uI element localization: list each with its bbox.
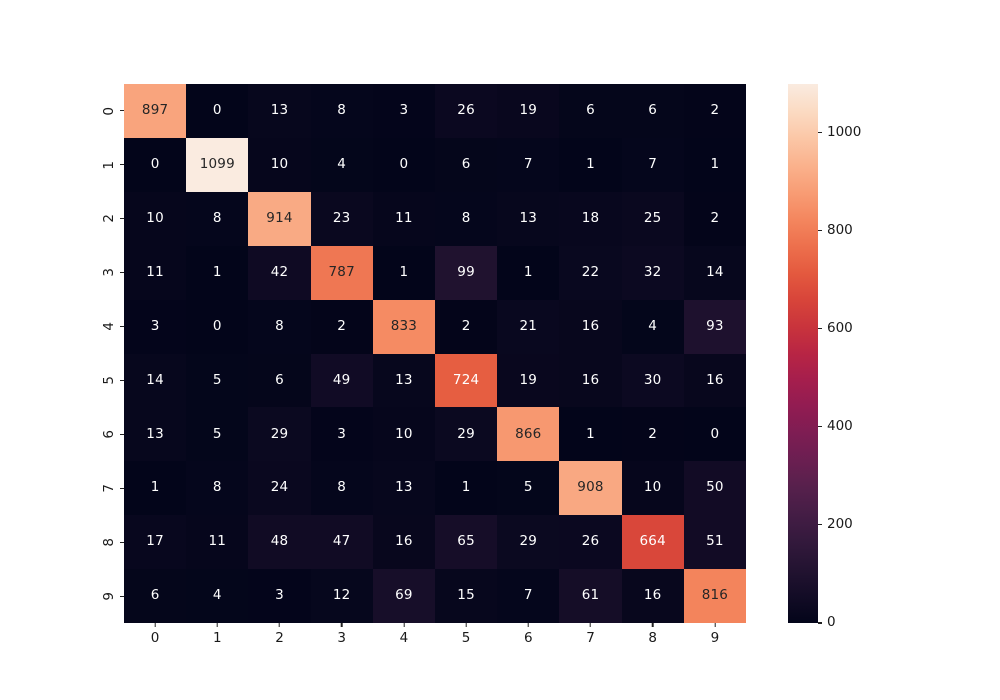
y-axis-tick-label: 5 [103,376,117,385]
colorbar-tick-mark [818,132,822,133]
x-axis-tick-label: 6 [524,632,533,646]
y-axis-tick-mark [120,434,124,435]
heatmap-cell: 23 [311,192,373,246]
heatmap-cell: 1099 [186,138,248,192]
heatmap-cell: 8 [311,461,373,515]
heatmap-cell: 3 [373,84,435,138]
x-axis-tick-label: 7 [586,632,595,646]
heatmap-cell: 897 [124,84,186,138]
y-axis-tick-label: 2 [103,214,117,223]
colorbar-tick-mark [818,230,822,231]
heatmap-cell: 32 [622,246,684,300]
heatmap-cell: 29 [435,407,497,461]
heatmap-cell: 10 [248,138,310,192]
heatmap-cell: 664 [622,515,684,569]
colorbar-tick-label: 1000 [827,126,861,140]
heatmap-cell: 15 [435,569,497,623]
x-axis-tick-mark [279,623,280,627]
heatmap-cell: 5 [497,461,559,515]
heatmap-cell: 49 [311,354,373,408]
y-axis-tick-mark [120,326,124,327]
heatmap-cell-grid: 8970138326196620109910406717110891423118… [124,84,746,623]
x-axis-tick-label: 4 [400,632,409,646]
heatmap-cell: 0 [186,84,248,138]
x-axis-tick: 9 [711,623,720,657]
colorbar-tick-mark [818,426,822,427]
y-axis-tick-label: 7 [103,484,117,493]
colorbar-tick-mark [818,328,822,329]
heatmap-cell: 1 [559,407,621,461]
heatmap-cell: 2 [435,300,497,354]
heatmap-cell: 8 [435,192,497,246]
x-axis-tick: 1 [213,623,222,657]
heatmap-cell: 7 [622,138,684,192]
colorbar-tick-mark [818,524,822,525]
heatmap-cell: 29 [497,515,559,569]
y-axis-tick-label: 9 [103,592,117,601]
x-axis-tick: 5 [462,623,471,657]
y-axis-tick-label: 6 [103,430,117,439]
heatmap-cell: 8 [186,192,248,246]
heatmap-cell: 19 [497,354,559,408]
x-axis-tick-mark [714,623,715,627]
colorbar-tick-label: 400 [827,420,853,434]
x-axis-tick: 7 [586,623,595,657]
x-axis-tick: 8 [648,623,657,657]
heatmap-cell: 0 [373,138,435,192]
x-axis-tick-mark [341,623,342,627]
x-axis-tick-label: 3 [337,632,346,646]
y-axis-tick-label: 1 [103,161,117,170]
heatmap-cell: 17 [124,515,186,569]
x-axis-tick: 4 [400,623,409,657]
y-axis-tick-mark [120,542,124,543]
x-axis-tick: 0 [151,623,160,657]
colorbar-gradient [788,84,818,623]
heatmap-cell: 10 [124,192,186,246]
heatmap-cell: 13 [248,84,310,138]
heatmap-cell: 2 [684,192,746,246]
heatmap-cell: 25 [622,192,684,246]
heatmap-cell: 1 [186,246,248,300]
heatmap-cell: 93 [684,300,746,354]
x-axis-tick-label: 2 [275,632,284,646]
heatmap-cell: 5 [186,407,248,461]
heatmap-cell: 10 [622,461,684,515]
y-axis-tick-mark [120,110,124,111]
y-axis-tick-label: 3 [103,268,117,277]
heatmap-cell: 4 [311,138,373,192]
heatmap-cell: 2 [684,84,746,138]
heatmap-cell: 787 [311,246,373,300]
heatmap-cell: 1 [124,461,186,515]
x-axis-tick-mark [652,623,653,627]
heatmap-cell: 69 [373,569,435,623]
heatmap-cell: 908 [559,461,621,515]
y-axis-tick-mark [120,164,124,165]
heatmap-cell: 26 [559,515,621,569]
x-axis-tick-label: 5 [462,632,471,646]
heatmap-cell: 1 [373,246,435,300]
heatmap-cell: 13 [124,407,186,461]
heatmap-cell: 14 [124,354,186,408]
heatmap-cell: 1 [559,138,621,192]
heatmap-cell: 8 [248,300,310,354]
heatmap-cell: 14 [684,246,746,300]
heatmap-cell: 5 [186,354,248,408]
x-axis-tick-mark [217,623,218,627]
heatmap-cell: 13 [373,461,435,515]
heatmap-cell: 866 [497,407,559,461]
x-axis-tick-label: 0 [151,632,160,646]
heatmap-cell: 6 [435,138,497,192]
heatmap-cell: 2 [622,407,684,461]
y-axis-tick-mark [120,596,124,597]
heatmap-cell: 16 [684,354,746,408]
heatmap-cell: 26 [435,84,497,138]
heatmap-cell: 1 [435,461,497,515]
x-axis-tick: 6 [524,623,533,657]
colorbar-tick-label: 0 [827,616,836,630]
heatmap-cell: 816 [684,569,746,623]
heatmap-cell: 10 [373,407,435,461]
heatmap-cell: 16 [622,569,684,623]
y-axis-tick-label: 0 [103,107,117,116]
heatmap-cell: 914 [248,192,310,246]
heatmap-cell: 99 [435,246,497,300]
heatmap-cell: 6 [559,84,621,138]
x-axis-tick-mark [466,623,467,627]
heatmap-cell: 0 [684,407,746,461]
heatmap-cell: 6 [248,354,310,408]
y-axis-tick-mark [120,218,124,219]
heatmap-cell: 18 [559,192,621,246]
heatmap-cell: 4 [186,569,248,623]
y-axis-tick-mark [120,488,124,489]
y-axis-tick-label: 4 [103,322,117,331]
heatmap-cell: 65 [435,515,497,569]
heatmap-cell: 0 [186,300,248,354]
heatmap-cell: 11 [186,515,248,569]
x-axis-tick-label: 9 [711,632,720,646]
heatmap-cell: 6 [622,84,684,138]
heatmap-cell: 50 [684,461,746,515]
heatmap-cell: 3 [311,407,373,461]
heatmap-cell: 724 [435,354,497,408]
heatmap-cell: 11 [373,192,435,246]
heatmap-cell: 8 [311,84,373,138]
colorbar: 02004006008001000 [788,84,818,623]
y-axis-tick-mark [120,272,124,273]
heatmap-cell: 4 [622,300,684,354]
heatmap-cell: 7 [497,569,559,623]
x-axis-tick: 2 [275,623,284,657]
x-axis-tick: 3 [337,623,346,657]
y-axis-tick-mark [120,380,124,381]
heatmap-cell: 1 [684,138,746,192]
heatmap-cell: 16 [373,515,435,569]
colorbar-tick-label: 600 [827,322,853,336]
y-axis-tick-label: 8 [103,538,117,547]
x-axis-tick-label: 1 [213,632,222,646]
colorbar-tick-label: 200 [827,518,853,532]
heatmap-cell: 8 [186,461,248,515]
heatmap-cell: 30 [622,354,684,408]
figure-canvas: 8970138326196620109910406717110891423118… [0,0,1000,700]
heatmap-axes: 8970138326196620109910406717110891423118… [124,84,746,623]
heatmap-cell: 51 [684,515,746,569]
heatmap-cell: 2 [311,300,373,354]
x-axis-tick-mark [155,623,156,627]
heatmap-cell: 21 [497,300,559,354]
heatmap-cell: 22 [559,246,621,300]
heatmap-cell: 6 [124,569,186,623]
colorbar-tick-label: 800 [827,224,853,238]
heatmap-cell: 7 [497,138,559,192]
heatmap-cell: 3 [248,569,310,623]
heatmap-cell: 13 [497,192,559,246]
heatmap-cell: 47 [311,515,373,569]
x-axis-tick-label: 8 [648,632,657,646]
heatmap-cell: 19 [497,84,559,138]
heatmap-cell: 12 [311,569,373,623]
x-axis-tick-mark [528,623,529,627]
heatmap-cell: 16 [559,354,621,408]
heatmap-cell: 11 [124,246,186,300]
x-axis-tick-mark [403,623,404,627]
heatmap-cell: 42 [248,246,310,300]
heatmap-cell: 16 [559,300,621,354]
heatmap-cell: 48 [248,515,310,569]
colorbar-tick-mark [818,622,822,623]
heatmap-cell: 3 [124,300,186,354]
x-axis-tick-mark [590,623,591,627]
heatmap-cell: 24 [248,461,310,515]
heatmap-cell: 833 [373,300,435,354]
heatmap-cell: 61 [559,569,621,623]
heatmap-cell: 13 [373,354,435,408]
heatmap-cell: 29 [248,407,310,461]
heatmap-cell: 1 [497,246,559,300]
heatmap-cell: 0 [124,138,186,192]
